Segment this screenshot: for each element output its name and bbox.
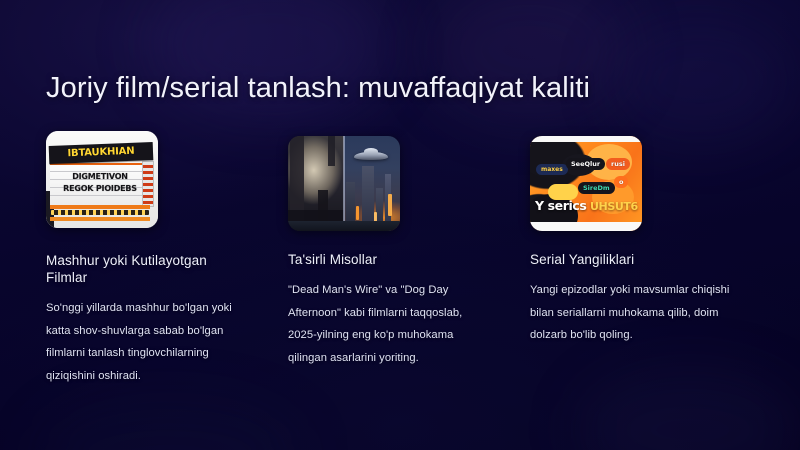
diptych-image (288, 136, 400, 231)
card-heading-3: Serial Yangiliklari (530, 251, 730, 268)
collage-chip-4: SireDm (578, 182, 615, 194)
collage-big-text-1: Y serics (535, 198, 586, 213)
marquee-stripe-upper (50, 205, 150, 209)
collage-chip-2: SeeQlur (566, 158, 605, 170)
marquee-image: DIGMETIVON REGOK PIOIDEBS IBTAUKHIAN (46, 131, 158, 228)
background-nebula-c (610, 20, 790, 140)
marquee-board-line-1: DIGMETIVON (50, 172, 150, 181)
collage-top-edge (530, 136, 642, 142)
thumbnail-logo-collage: maxes SeeQlur rusi SireDm o Y serics UHS… (530, 136, 642, 231)
marquee-side-panel (142, 161, 154, 207)
collage-bottom-edge (530, 222, 642, 231)
card-column-1: DIGMETIVON REGOK PIOIDEBS IBTAUKHIAN Mas… (46, 131, 246, 387)
collage-big-text-2: UHSUT6 (590, 200, 638, 213)
card-body-1: So'nggi yillarda mashhur bo'lgan yoki ka… (46, 297, 236, 387)
marquee-letter-board: DIGMETIVON REGOK PIOIDEBS (50, 163, 150, 207)
diptych-seam (343, 136, 345, 231)
collage-chip-5: o (614, 176, 628, 188)
diptych-foreground (288, 221, 400, 231)
diptych-right-panel (344, 136, 400, 231)
collage-image: maxes SeeQlur rusi SireDm o Y serics UHS… (530, 136, 642, 231)
card-column-2: Ta'sirli Misollar "Dead Man's Wire" va "… (288, 131, 488, 387)
slide-title: Joriy film/serial tanlash: muvaffaqiyat … (46, 72, 590, 105)
slide-root: Joriy film/serial tanlash: muvaffaqiyat … (0, 0, 800, 450)
collage-chip-3: rusi (606, 158, 630, 170)
diptych-left-panel (288, 136, 344, 231)
marquee-board-line-2: REGOK PIOIDEBS (50, 184, 150, 193)
card-body-2: "Dead Man's Wire" va "Dog Day Afternoon"… (288, 279, 466, 369)
thumbnail-cinema-marquee: DIGMETIVON REGOK PIOIDEBS IBTAUKHIAN (46, 131, 158, 228)
thumbnail-split-city (288, 136, 400, 231)
card-column-3: maxes SeeQlur rusi SireDm o Y serics UHS… (530, 131, 730, 387)
card-columns: DIGMETIVON REGOK PIOIDEBS IBTAUKHIAN Mas… (46, 131, 746, 387)
card-body-3: Yangi epizodlar yoki mavsumlar chiqishi … (530, 279, 735, 347)
card-heading-1: Mashhur yoki Kutilayotgan Filmlar (46, 252, 246, 286)
ufo-craft-icon (354, 152, 388, 160)
marquee-bulb-row (51, 210, 149, 215)
collage-chip-1: maxes (536, 164, 568, 175)
card-heading-2: Ta'sirli Misollar (288, 251, 488, 268)
background-nebula-e (40, 400, 300, 450)
marquee-stripe-lower (50, 217, 150, 221)
